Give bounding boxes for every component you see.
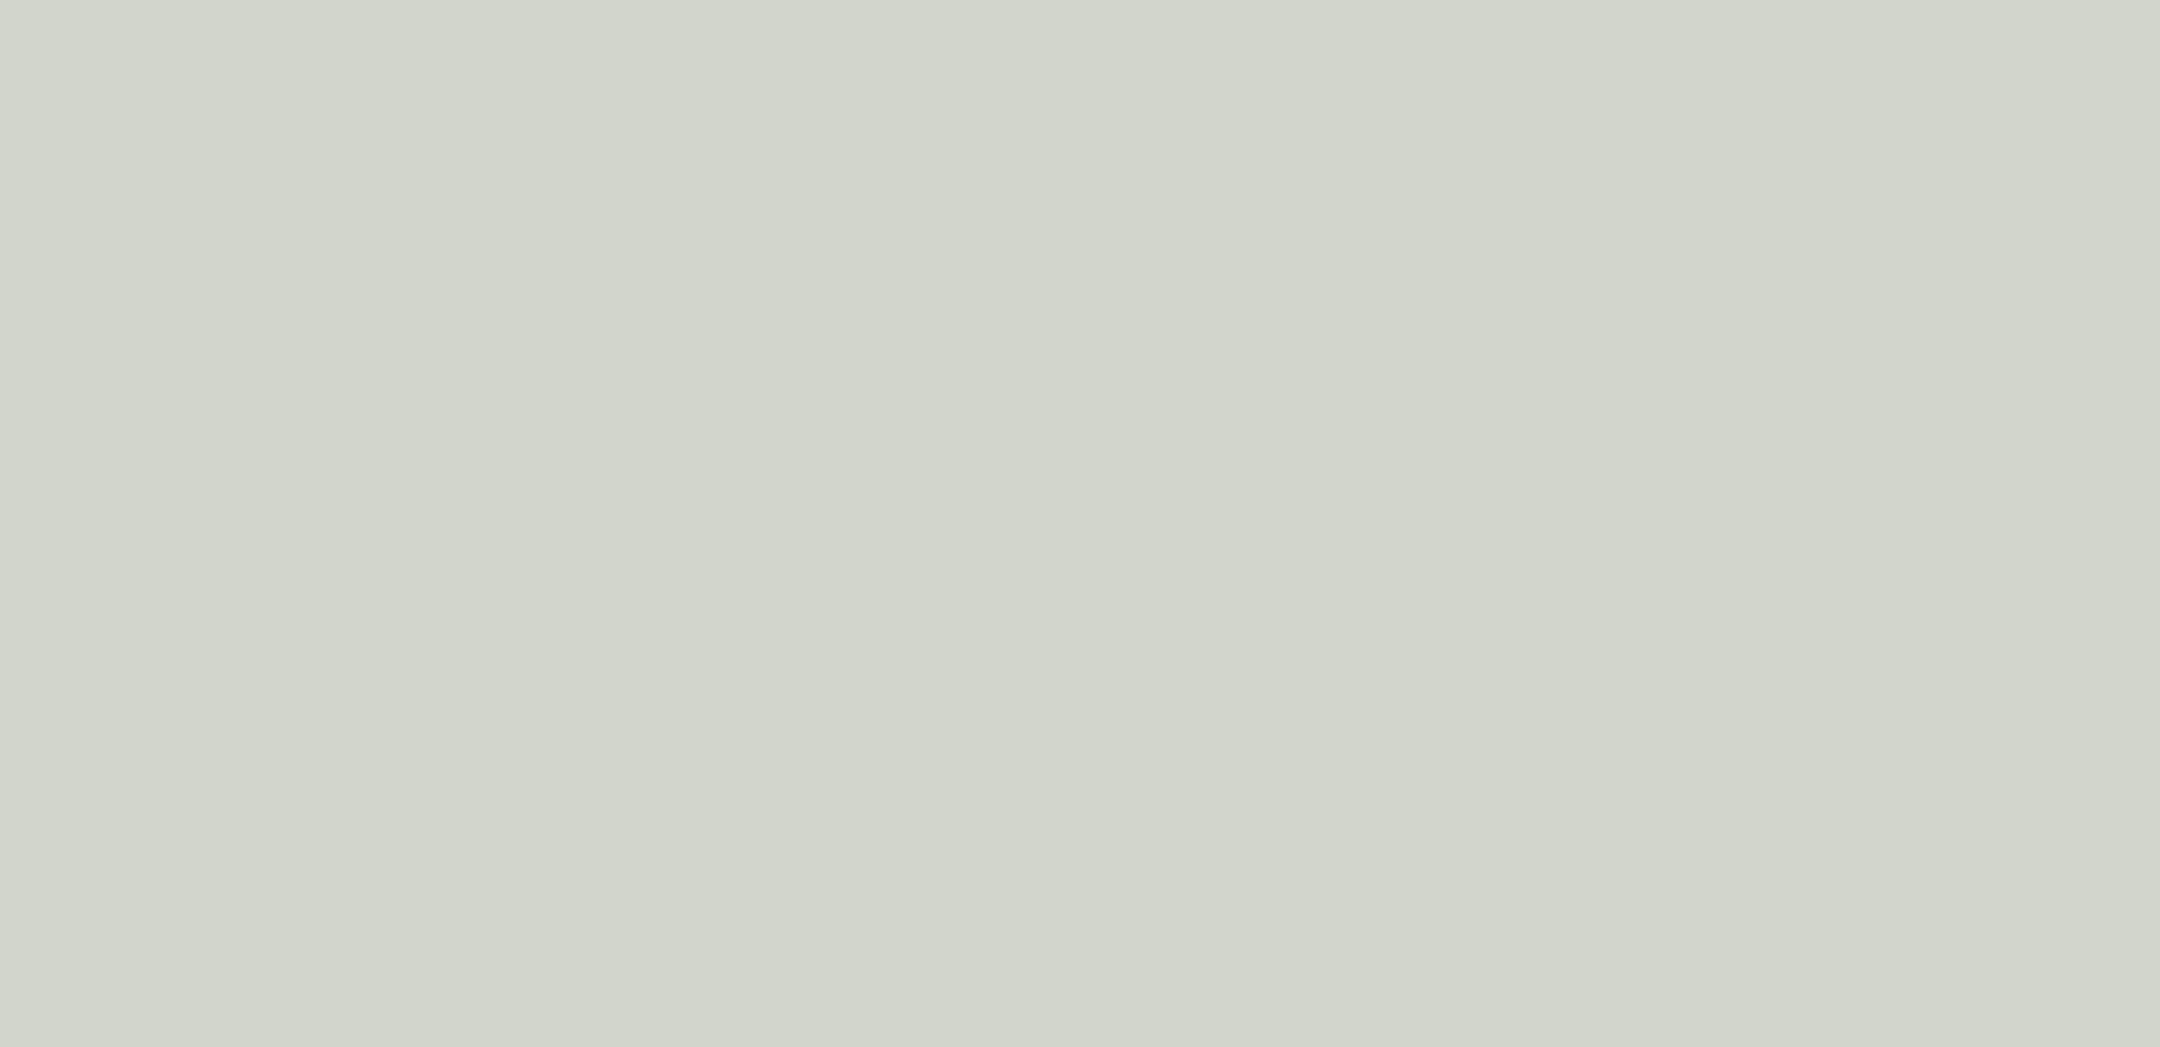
figure-canvas bbox=[0, 0, 2160, 1047]
